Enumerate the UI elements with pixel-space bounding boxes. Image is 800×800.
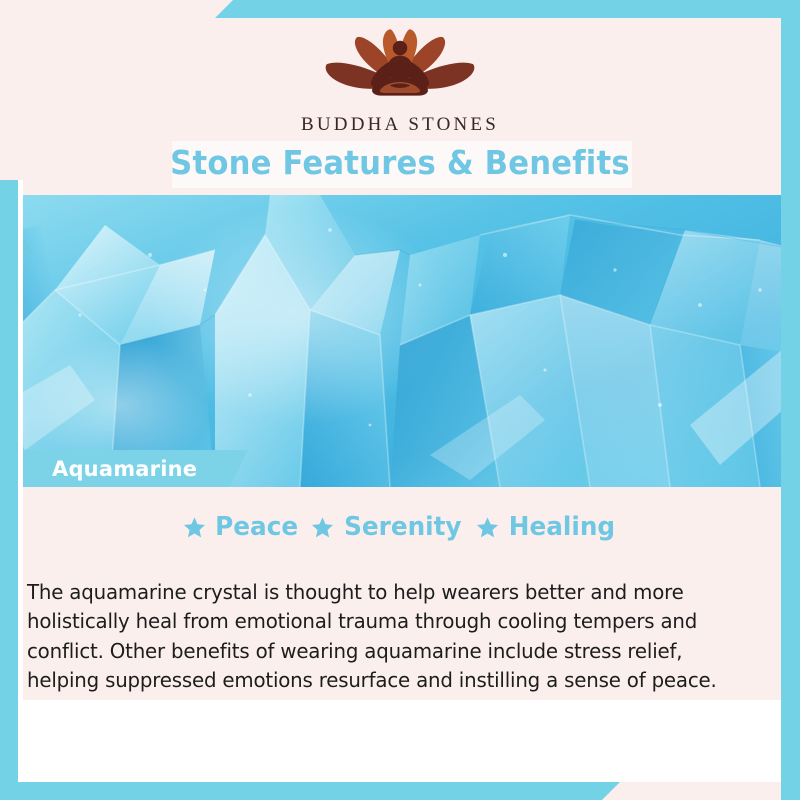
keyword-label: Healing — [508, 512, 614, 542]
keyword-item-peace: Peace — [183, 512, 300, 542]
stone-name-label: Aquamarine — [18, 450, 230, 487]
frame-accent-left — [0, 180, 18, 800]
lotus-meditation-figure-icon — [315, 22, 485, 108]
background-panel-bottom — [0, 700, 800, 782]
keyword-item-serenity: Serenity — [311, 512, 465, 542]
star-icon — [183, 516, 206, 539]
star-icon — [476, 516, 499, 539]
frame-inner-gap-left — [18, 180, 23, 782]
hero-image — [0, 195, 800, 487]
keyword-item-healing: Healing — [476, 512, 618, 542]
aquamarine-crystal-cluster-photo — [0, 195, 800, 487]
frame-accent-top — [215, 0, 800, 18]
keyword-list: Peace Serenity Healing — [0, 512, 800, 542]
star-icon — [311, 516, 334, 539]
keyword-label: Serenity — [344, 512, 461, 542]
brand-logo: BUDDHA STONES — [0, 22, 800, 136]
frame-inner-gap-bottom — [18, 778, 620, 782]
brand-wordmark: BUDDHA STONES — [0, 114, 800, 136]
keyword-label: Peace — [215, 512, 298, 542]
page-title: Stone Features & Benefits — [28, 137, 772, 189]
poster-canvas: BUDDHA STONES Stone Features & Benefits — [0, 0, 800, 800]
frame-accent-bottom — [0, 782, 620, 800]
frame-accent-right — [781, 0, 800, 800]
description-text: The aquamarine crystal is thought to hel… — [27, 578, 749, 696]
